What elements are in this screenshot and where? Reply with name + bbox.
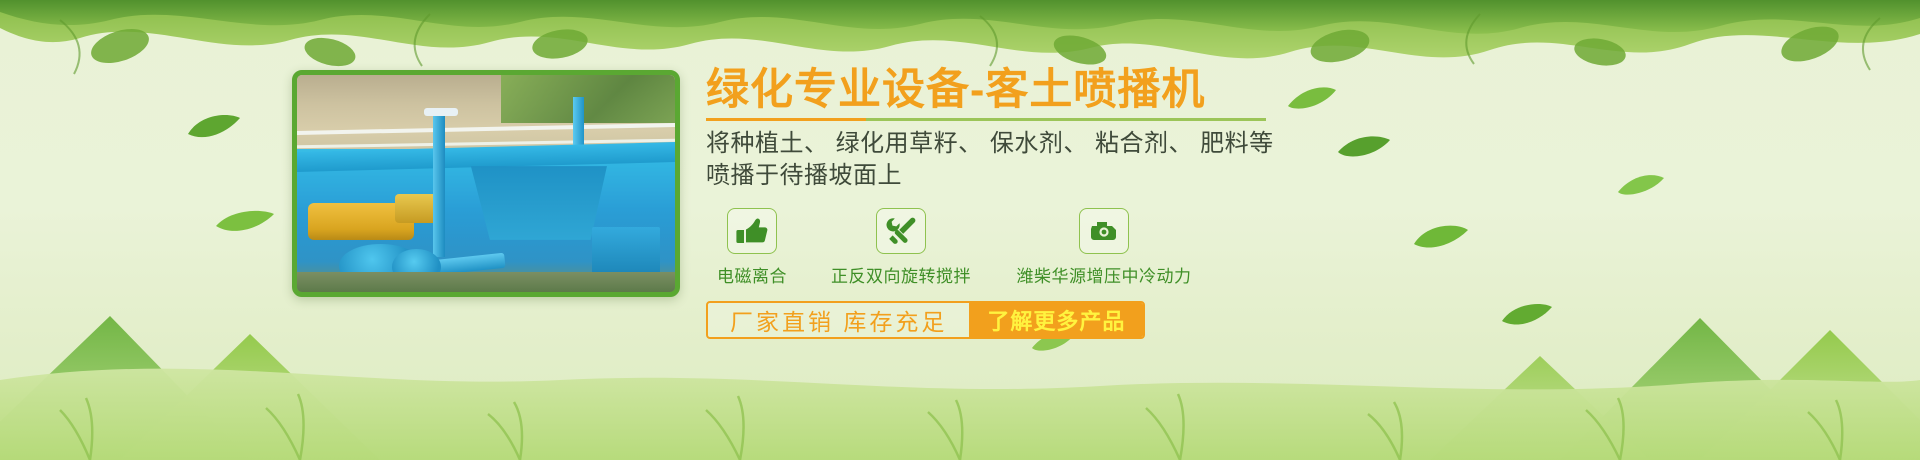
product-photo [292, 70, 680, 297]
feature-label: 潍柴华源增压中冷动力 [1017, 262, 1192, 287]
promo-banner: 绿化专业设备-客土喷播机 将种植土、 绿化用草籽、 保水剂、 粘合剂、 肥料等 … [0, 0, 1920, 460]
cta-slogan: 厂家直销 库存充足 [708, 303, 969, 337]
floating-leaf-icon [214, 206, 276, 236]
title-underline [706, 118, 1266, 121]
feature-label: 电磁离合 [717, 262, 787, 287]
floating-leaf-icon [186, 112, 242, 142]
feature-label: 正反双向旋转搅拌 [831, 262, 971, 287]
subtitle-line-1: 将种植土、 绿化用草籽、 保水剂、 粘合剂、 肥料等 [706, 128, 1906, 160]
banner-subtitle: 将种植土、 绿化用草籽、 保水剂、 粘合剂、 肥料等 喷播于待播坡面上 [706, 128, 1906, 191]
feature-item: 电磁离合 [706, 208, 798, 287]
feature-item: 潍柴华源增压中冷动力 [1004, 208, 1204, 287]
banner-content: 绿化专业设备-客土喷播机 将种植土、 绿化用草籽、 保水剂、 粘合剂、 肥料等 … [706, 66, 1906, 339]
feature-item: 正反双向旋转搅拌 [816, 208, 986, 287]
thumbs-up-icon [727, 208, 777, 254]
engine-icon [1079, 208, 1129, 254]
subtitle-line-2: 喷播于待播坡面上 [706, 160, 1906, 192]
learn-more-button[interactable]: 了解更多产品 [969, 303, 1143, 337]
page-title: 绿化专业设备-客土喷播机 [706, 66, 1906, 114]
wrench-screwdriver-icon [876, 208, 926, 254]
cta-bar: 厂家直销 库存充足 了解更多产品 [706, 301, 1145, 339]
feature-list: 电磁离合 正反双向旋转搅拌 [706, 208, 1906, 287]
